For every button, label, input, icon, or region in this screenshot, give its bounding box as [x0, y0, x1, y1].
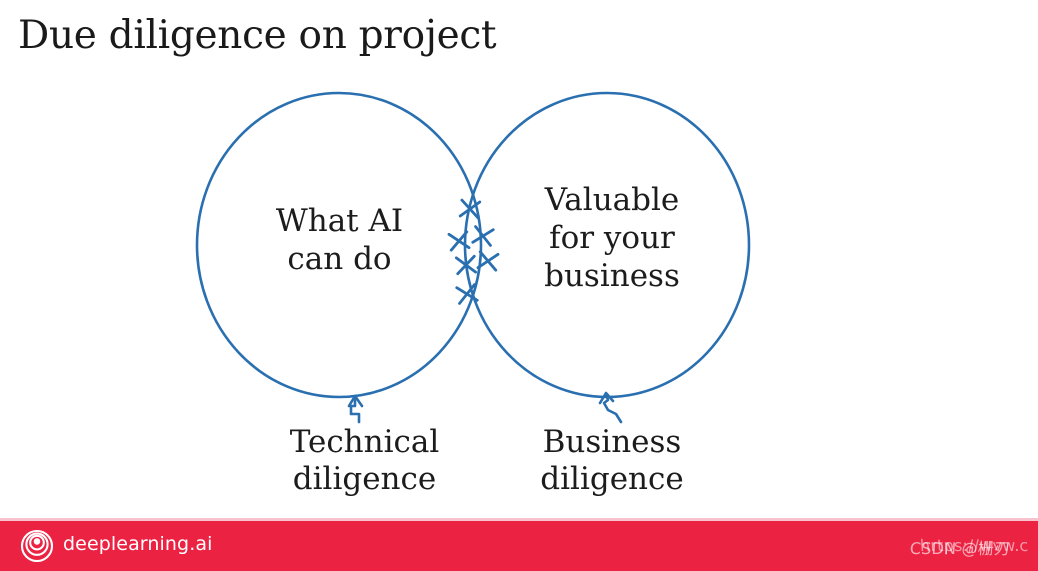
- footer-brand-text: deeplearning.ai: [63, 533, 212, 555]
- intersection-x-markers: [449, 200, 498, 303]
- business-diligence-label: Business diligence: [512, 424, 712, 498]
- right-circle-label: Valuable for your business: [512, 182, 712, 295]
- deeplearning-ai-spiral-logo-icon: [21, 530, 53, 562]
- technical-diligence-label: Technical diligence: [262, 424, 467, 498]
- slide-canvas: Due diligence on project: [0, 0, 1038, 571]
- technical-diligence-arrow: [349, 396, 362, 422]
- venn-diagram: What AI can do Valuable for your busines…: [0, 0, 1038, 521]
- left-circle-label: What AI can do: [232, 203, 447, 279]
